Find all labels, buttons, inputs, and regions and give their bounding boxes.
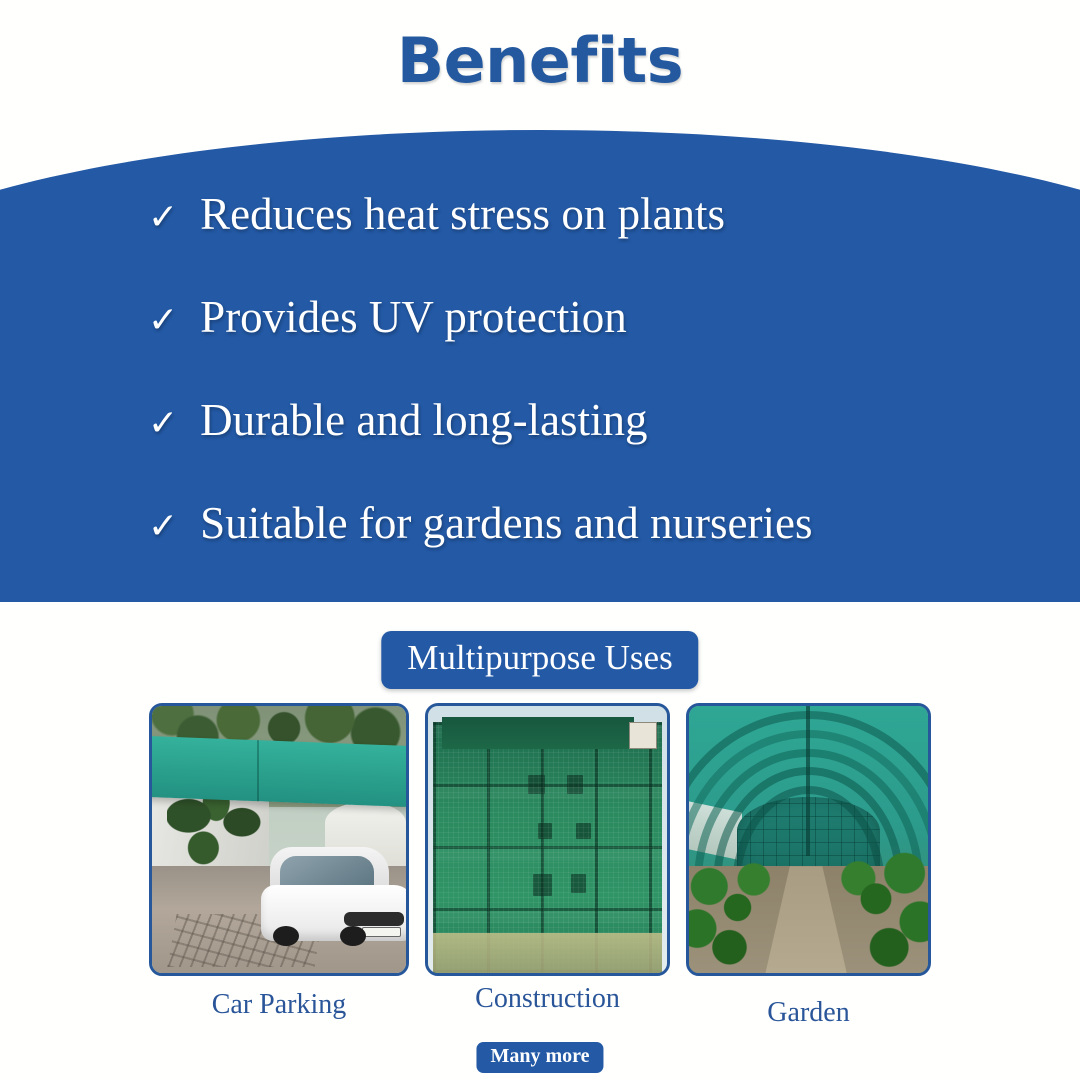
many-more-badge: Many more	[476, 1042, 603, 1073]
page-title: Benefits	[0, 24, 1080, 97]
benefits-panel: ✓ Reduces heat stress on plants ✓ Provid…	[0, 130, 1080, 602]
check-icon: ✓	[148, 303, 178, 339]
use-card-garden: Garden	[686, 703, 931, 1030]
check-icon: ✓	[148, 509, 178, 545]
benefit-item: ✓ Provides UV protection	[148, 295, 1080, 398]
car-parking-image	[149, 703, 409, 976]
multipurpose-uses-badge: Multipurpose Uses	[381, 631, 698, 689]
benefit-item: ✓ Durable and long-lasting	[148, 398, 1080, 501]
use-card-caption: Garden	[767, 996, 849, 1030]
benefit-item-label: Durable and long-lasting	[200, 398, 647, 443]
check-icon: ✓	[148, 406, 178, 442]
infographic-page: Benefits ✓ Reduces heat stress on plants…	[0, 0, 1080, 1080]
benefits-list: ✓ Reduces heat stress on plants ✓ Provid…	[0, 130, 1080, 602]
uses-card-row: Car Parking Construction	[0, 703, 1080, 1030]
benefit-item-label: Suitable for gardens and nurseries	[200, 501, 812, 546]
benefit-item-label: Reduces heat stress on plants	[200, 192, 725, 237]
benefit-item-label: Provides UV protection	[200, 295, 627, 340]
benefit-item: ✓ Reduces heat stress on plants	[148, 192, 1080, 295]
construction-image	[425, 703, 670, 976]
use-card-car-parking: Car Parking	[149, 703, 409, 1022]
use-card-caption: Car Parking	[212, 988, 347, 1022]
use-card-caption: Construction	[475, 982, 620, 1016]
check-icon: ✓	[148, 200, 178, 236]
benefit-item: ✓ Suitable for gardens and nurseries	[148, 501, 1080, 602]
use-card-construction: Construction	[425, 703, 670, 1016]
garden-image	[686, 703, 931, 976]
